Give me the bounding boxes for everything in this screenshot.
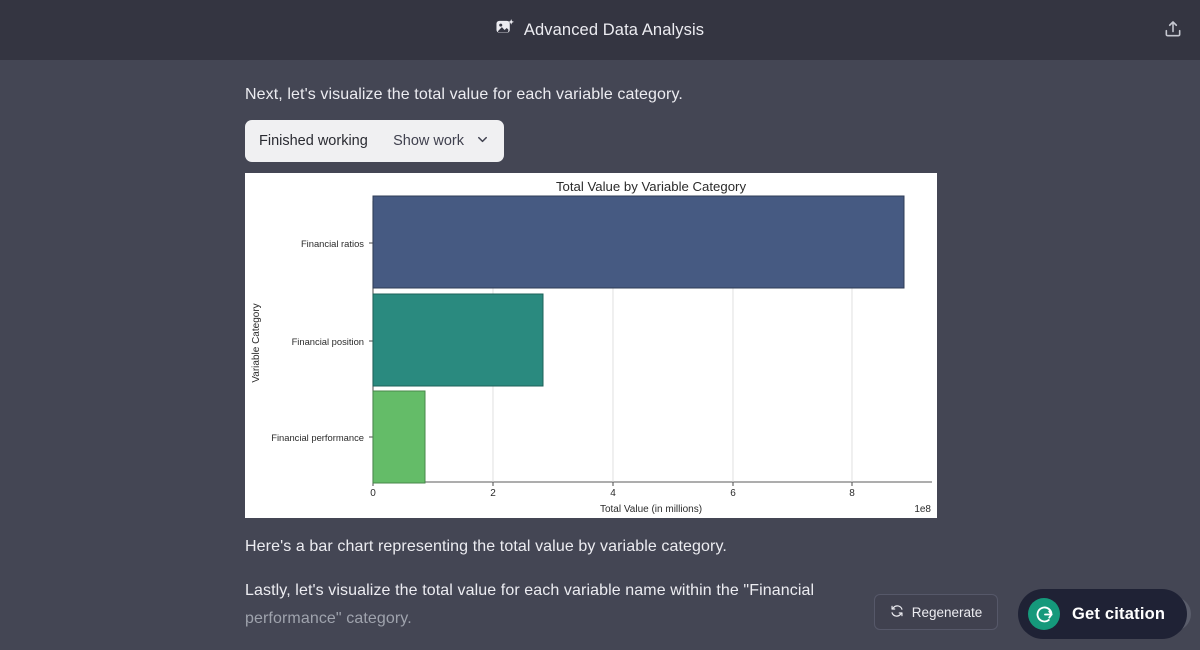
bar-financial-position bbox=[373, 294, 543, 386]
page-title-text: Advanced Data Analysis bbox=[524, 21, 704, 40]
refresh-icon bbox=[890, 604, 904, 621]
data-analysis-sparkle-icon bbox=[496, 18, 515, 42]
x-tick-label-0: 0 bbox=[370, 488, 376, 499]
x-tick-marks bbox=[373, 482, 852, 486]
bar-financial-performance bbox=[373, 391, 425, 483]
tool-status-panel[interactable]: Finished working Show work bbox=[245, 120, 504, 162]
tool-status-label: Finished working bbox=[259, 133, 368, 149]
chart-title: Total Value by Variable Category bbox=[556, 179, 747, 194]
share-button[interactable] bbox=[1160, 18, 1186, 44]
get-citation-label: Get citation bbox=[1072, 605, 1165, 624]
grammarly-g-icon bbox=[1028, 598, 1060, 630]
x-tick-label-4: 8 bbox=[849, 488, 855, 499]
x-tick-label-3: 6 bbox=[730, 488, 736, 499]
show-work-toggle[interactable]: Show work bbox=[393, 132, 490, 151]
assistant-intro-text: Next, let's visualize the total value fo… bbox=[245, 81, 683, 109]
get-citation-button[interactable]: Get citation bbox=[1018, 589, 1187, 639]
app-header: Advanced Data Analysis bbox=[0, 0, 1200, 60]
conversation-area: Next, let's visualize the total value fo… bbox=[0, 60, 1200, 650]
x-tick-label-1: 2 bbox=[490, 488, 496, 499]
next-step-line-1: Lastly, let's visualize the total value … bbox=[245, 582, 814, 599]
regenerate-label: Regenerate bbox=[912, 605, 983, 620]
y-axis-label: Variable Category bbox=[251, 303, 262, 382]
share-upload-icon bbox=[1163, 19, 1183, 44]
bar-chart: Total Value by Variable Category Financi… bbox=[245, 173, 937, 518]
bar-financial-ratios bbox=[373, 196, 904, 288]
next-step-line-2: performance" category. bbox=[245, 610, 412, 627]
chart-card: Total Value by Variable Category Financi… bbox=[245, 173, 937, 518]
y-tick-label-financial-position: Financial position bbox=[292, 336, 364, 347]
page-title: Advanced Data Analysis bbox=[496, 18, 704, 42]
y-tick-marks bbox=[369, 243, 373, 437]
regenerate-button[interactable]: Regenerate bbox=[874, 594, 998, 630]
y-tick-label-financial-performance: Financial performance bbox=[271, 432, 364, 443]
y-tick-label-financial-ratios: Financial ratios bbox=[301, 238, 364, 249]
x-tick-label-2: 4 bbox=[610, 488, 616, 499]
show-work-label: Show work bbox=[393, 133, 464, 149]
x-axis-label: Total Value (in millions) bbox=[600, 504, 702, 515]
x-axis-exponent-label: 1e8 bbox=[914, 504, 931, 515]
chart-bars bbox=[373, 196, 904, 483]
chevron-down-icon bbox=[475, 132, 490, 151]
assistant-chart-caption: Here's a bar chart representing the tota… bbox=[245, 533, 727, 561]
assistant-next-step-text: Lastly, let's visualize the total value … bbox=[245, 577, 865, 633]
